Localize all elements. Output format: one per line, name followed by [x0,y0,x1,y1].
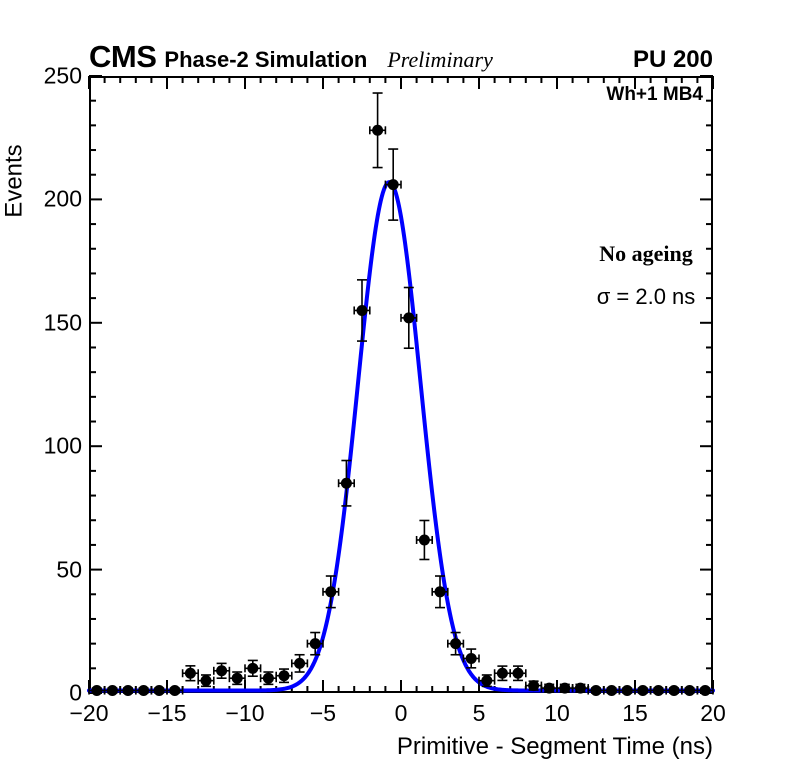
x-tick-label: 20 [668,700,758,727]
y-tick-label: 150 [2,309,82,336]
x-tick-label: −20 [44,700,134,727]
x-tick-label: 10 [512,700,602,727]
x-axis-tick-labels: −20−15−10−505101520 [0,700,796,734]
y-tick-label: 50 [2,556,82,583]
cms-header-left: CMS Phase-2 Simulation Preliminary [89,41,493,72]
y-tick-label: 100 [2,433,82,460]
chamber-label: Wh+1 MB4 [606,84,703,106]
cms-logo: CMS [89,41,156,72]
plot-frame: Wh+1 MB4 No ageing σ = 2.0 ns [89,76,713,693]
cms-subtitle: Phase-2 Simulation [164,49,367,71]
x-tick-label: 15 [590,700,680,727]
y-axis-tick-labels: 050100150200250 [0,0,82,772]
x-tick-label: 5 [434,700,524,727]
y-tick-label: 250 [2,63,82,90]
figure-canvas: CMS Phase-2 Simulation Preliminary PU 20… [0,0,796,772]
x-tick-label: −10 [200,700,290,727]
y-tick-label: 200 [2,186,82,213]
x-tick-label: −15 [122,700,212,727]
x-tick-label: 0 [356,700,446,727]
x-tick-label: −5 [278,700,368,727]
x-axis-title: Primitive - Segment Time (ns) [89,733,713,761]
annotation-ageing: No ageing [546,241,746,267]
cms-status-preliminary: Preliminary [387,49,493,71]
cms-header: CMS Phase-2 Simulation Preliminary PU 20… [89,42,713,72]
annotation-sigma: σ = 2.0 ns [546,284,746,310]
pileup-label: PU 200 [633,48,713,72]
